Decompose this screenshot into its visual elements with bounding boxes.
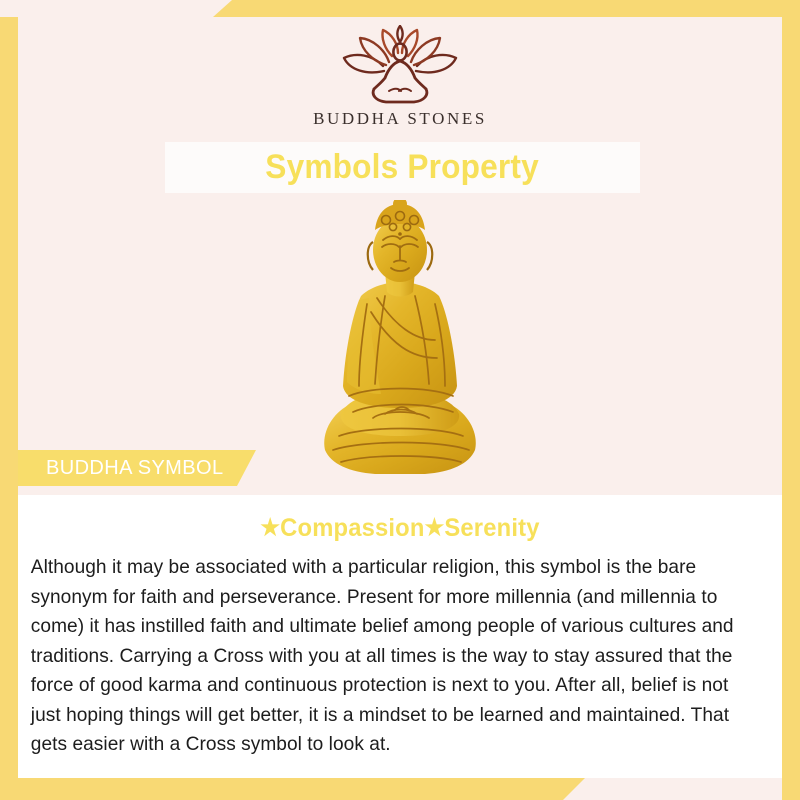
- lotus-meditation-figure-icon: [340, 25, 460, 107]
- star-icon-left: ★: [260, 514, 280, 540]
- star-icon-right: ★: [425, 514, 445, 540]
- infographic-page: BUDDHA STONES Symbols Property: [0, 0, 800, 800]
- brand-wordmark: BUDDHA STONES: [313, 109, 487, 129]
- decorative-band-bottom: [0, 778, 585, 800]
- decorative-band-top: [213, 0, 800, 17]
- page-title: Symbols Property: [266, 148, 540, 187]
- golden-seated-buddha-statue-icon: [311, 200, 489, 482]
- subtitle-word-compassion: Compassion: [280, 514, 424, 542]
- content-paragraph: Although it may be associated with a par…: [18, 543, 771, 760]
- decorative-band-right: [782, 0, 800, 800]
- subtitle-word-serenity: Serenity: [444, 514, 539, 542]
- content-subtitle: ★Compassion★Serenity: [37, 495, 763, 543]
- content-card: ★Compassion★Serenity Although it may be …: [18, 495, 782, 778]
- title-plate: Symbols Property: [165, 142, 640, 193]
- decorative-band-left: [0, 17, 18, 800]
- section-ribbon-label: BUDDHA SYMBOL: [46, 457, 223, 480]
- hero-image: [18, 200, 782, 482]
- section-ribbon: BUDDHA SYMBOL: [18, 450, 256, 486]
- brand-logo: BUDDHA STONES: [18, 25, 782, 129]
